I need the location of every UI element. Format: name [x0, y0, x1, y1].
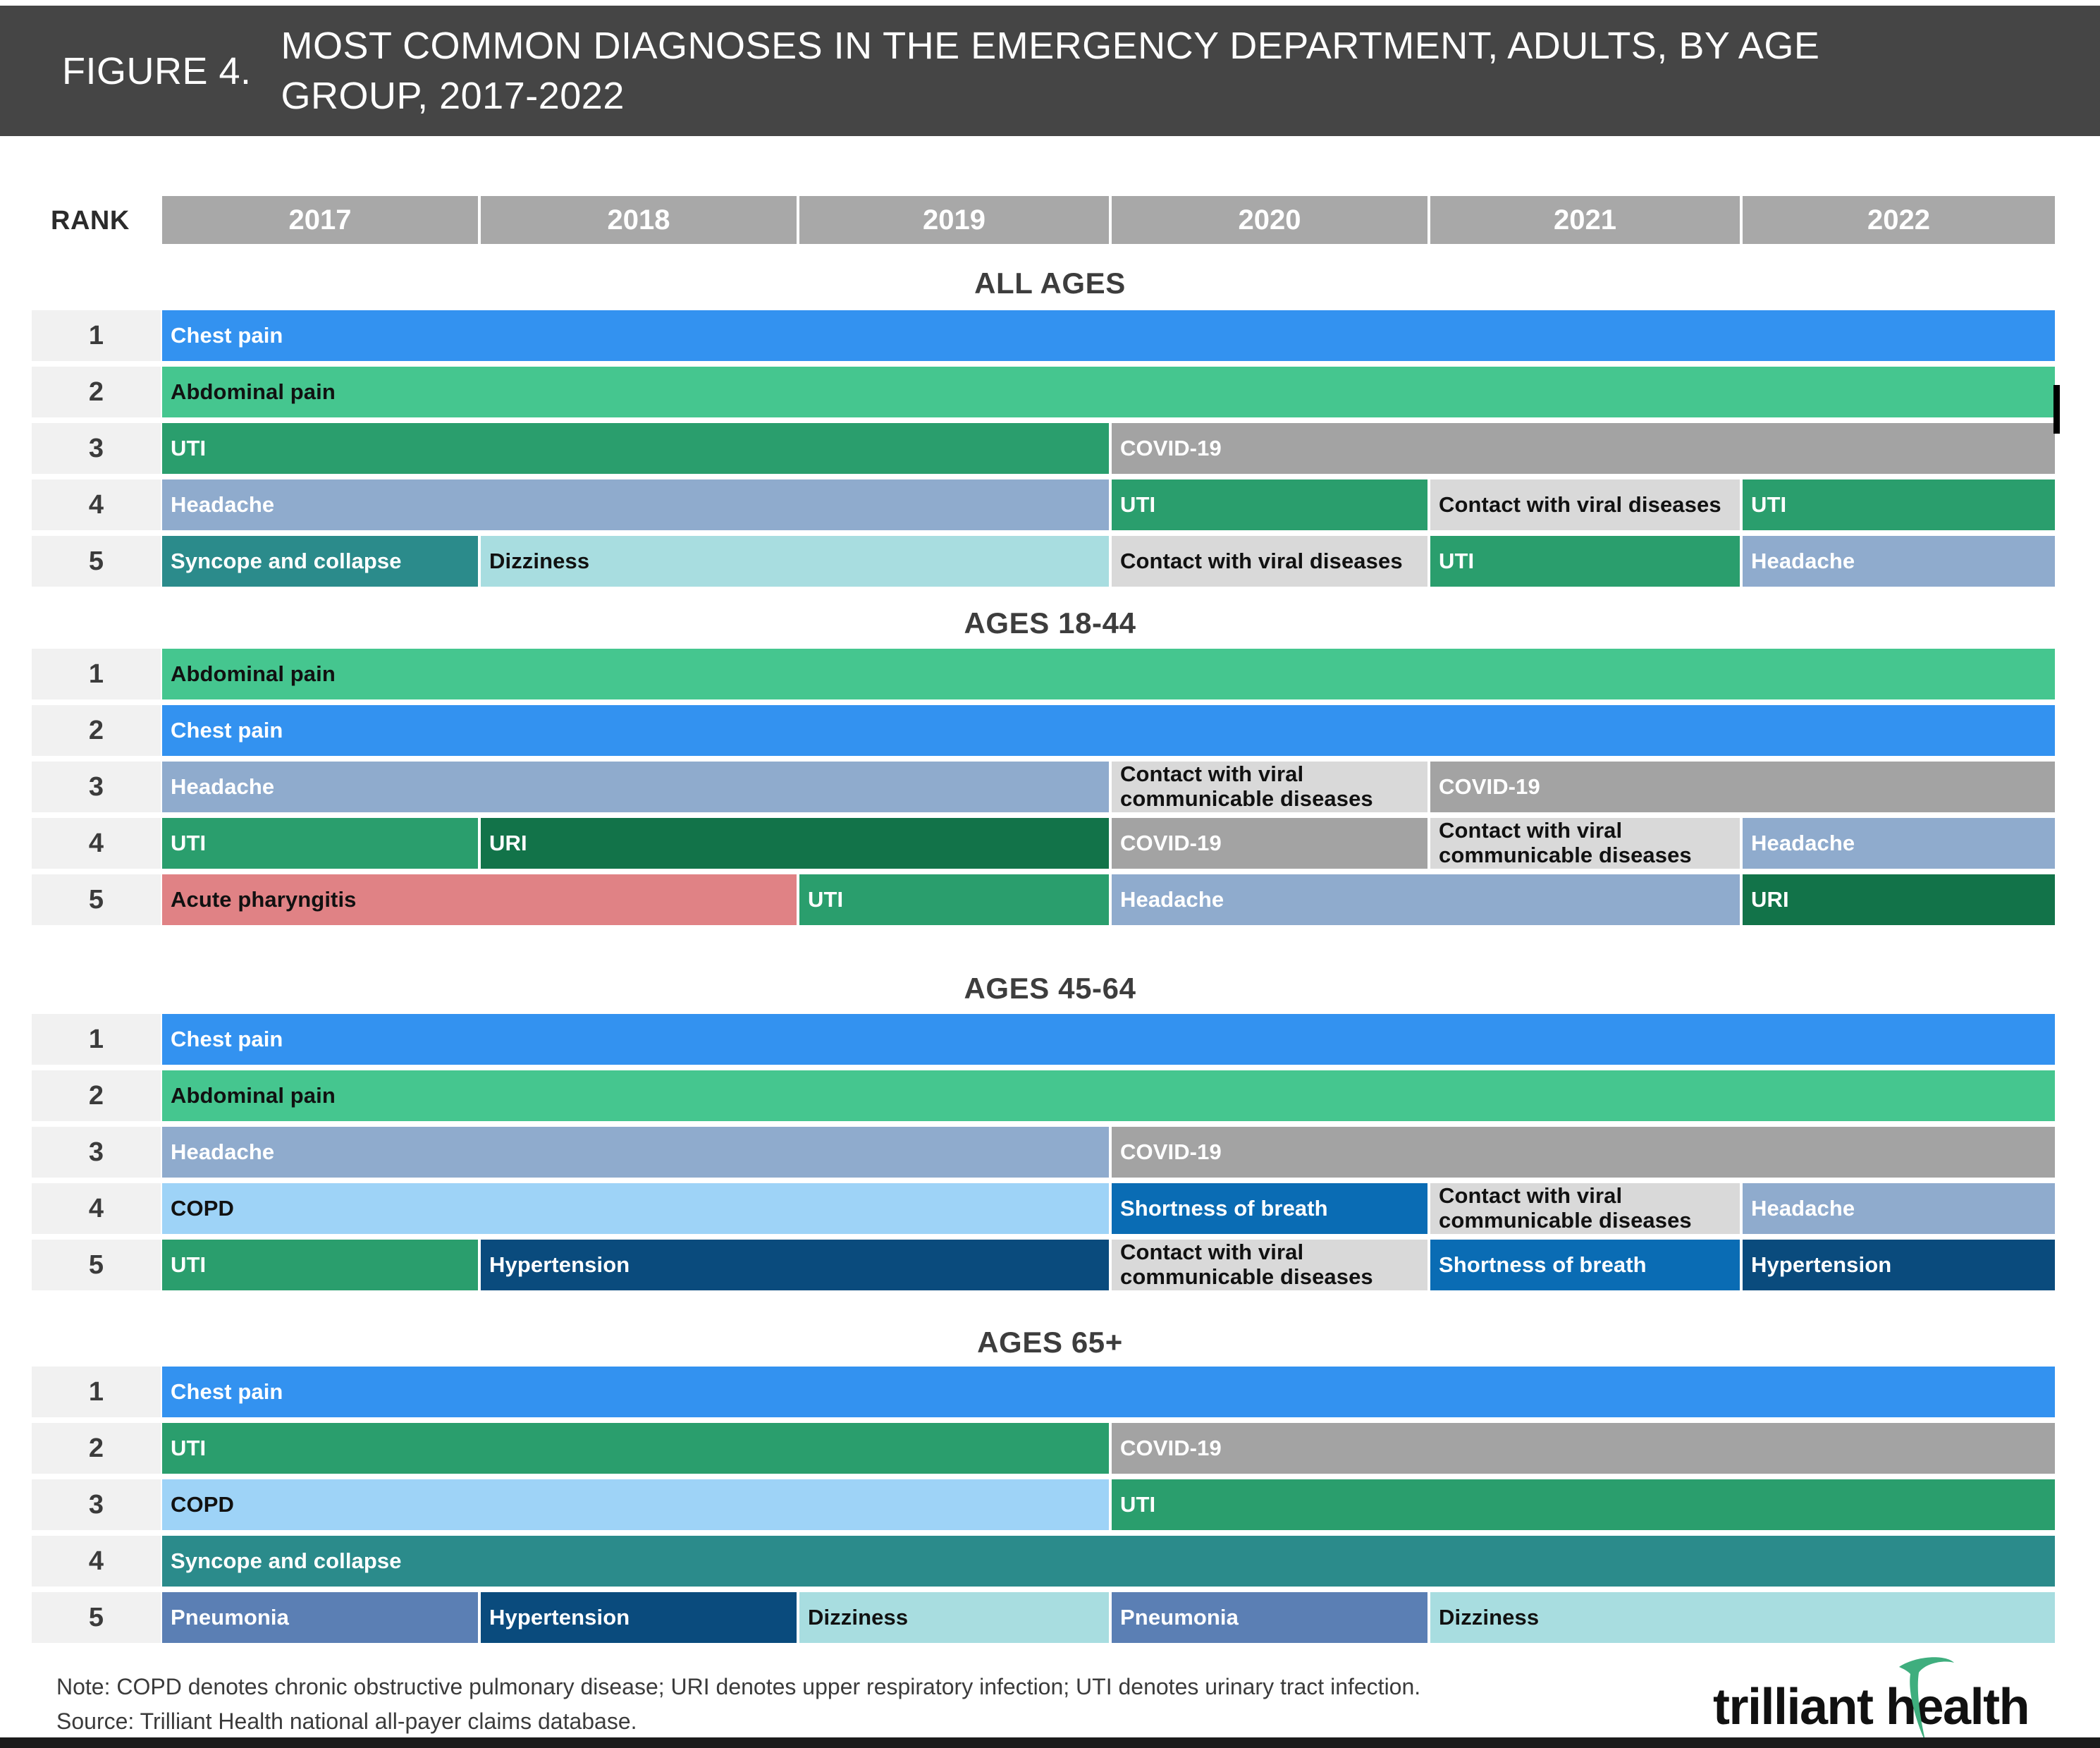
- diagnosis-cell[interactable]: Syncope and collapse: [162, 1536, 2055, 1587]
- diagnosis-cell[interactable]: Contact with viralcommunicable diseases: [1430, 818, 1740, 869]
- diagnosis-label: COVID-19: [1120, 1436, 1222, 1461]
- year-header-2019[interactable]: 2019: [799, 196, 1109, 244]
- rank-cell: 3: [32, 762, 161, 812]
- diagnosis-label: UTI: [808, 888, 843, 912]
- diagnosis-label: Headache: [171, 775, 274, 800]
- diagnosis-cell[interactable]: Dizziness: [1430, 1592, 2055, 1643]
- footnote-note: Note: COPD denotes chronic obstructive p…: [56, 1670, 1664, 1704]
- diagnosis-label: Contact with viralcommunicable diseases: [1439, 819, 1692, 867]
- diagnosis-cell[interactable]: COVID-19: [1112, 423, 2055, 474]
- rank-cell: 1: [32, 1014, 161, 1065]
- diagnosis-cell[interactable]: Syncope and collapse: [162, 536, 478, 587]
- rank-cell: 5: [32, 536, 161, 587]
- diagnosis-label: Pneumonia: [171, 1606, 289, 1630]
- diagnosis-label: Headache: [1751, 549, 1855, 574]
- diagnosis-label: Contact with viral diseases: [1439, 493, 1721, 518]
- diagnosis-label: UTI: [1751, 493, 1786, 518]
- section-title-ages-45-64: AGES 45-64: [0, 972, 2100, 1006]
- diagnosis-cell[interactable]: UTI: [162, 1240, 478, 1290]
- diagnosis-cell[interactable]: Hypertension: [481, 1592, 797, 1643]
- logo-wordmark: trilliant health: [1713, 1678, 2029, 1736]
- diagnosis-cell[interactable]: Pneumonia: [162, 1592, 478, 1643]
- year-header-2017[interactable]: 2017: [162, 196, 478, 244]
- diagnosis-label: Contact with viralcommunicable diseases: [1120, 1240, 1373, 1289]
- year-header-2020[interactable]: 2020: [1112, 196, 1427, 244]
- diagnosis-label: Headache: [1751, 1197, 1855, 1221]
- row-edge-marker: [2053, 385, 2060, 434]
- rank-cell: 1: [32, 649, 161, 699]
- diagnosis-label: Hypertension: [489, 1253, 630, 1278]
- year-header-2022[interactable]: 2022: [1743, 196, 2055, 244]
- diagnosis-label: Shortness of breath: [1120, 1197, 1328, 1221]
- footer-notes: Note: COPD denotes chronic obstructive p…: [56, 1670, 1664, 1738]
- diagnosis-cell[interactable]: UTI: [162, 423, 1109, 474]
- diagnosis-cell[interactable]: COPD: [162, 1183, 1109, 1234]
- diagnosis-cell[interactable]: COPD: [162, 1479, 1109, 1530]
- diagnosis-label: Contact with viralcommunicable diseases: [1439, 1184, 1692, 1233]
- page-title: MOST COMMON DIAGNOSES IN THE EMERGENCY D…: [281, 21, 1903, 120]
- diagnosis-cell[interactable]: Chest pain: [162, 1367, 2055, 1417]
- diagnosis-label: COPD: [171, 1197, 234, 1221]
- diagnosis-label: URI: [489, 831, 527, 856]
- diagnosis-cell[interactable]: Abdominal pain: [162, 367, 2055, 417]
- diagnosis-cell[interactable]: Contact with viralcommunicable diseases: [1112, 1240, 1427, 1290]
- diagnosis-label: UTI: [171, 1253, 206, 1278]
- diagnosis-label: Hypertension: [1751, 1253, 1891, 1278]
- rank-cell: 3: [32, 1479, 161, 1530]
- trilliant-health-logo: trilliant health: [1713, 1670, 2065, 1737]
- diagnosis-cell[interactable]: Hypertension: [1743, 1240, 2055, 1290]
- rank-cell: 5: [32, 1240, 161, 1290]
- diagnosis-cell[interactable]: Contact with viral diseases: [1112, 536, 1427, 587]
- rank-cell: 4: [32, 479, 161, 530]
- diagnosis-label: UTI: [1120, 1493, 1155, 1517]
- figure-number-label: FIGURE 4.: [62, 49, 252, 93]
- diagnosis-label: Headache: [1120, 888, 1224, 912]
- rank-cell: 5: [32, 874, 161, 925]
- figure-title-bar: FIGURE 4. MOST COMMON DIAGNOSES IN THE E…: [0, 6, 2100, 136]
- footnote-source: Source: Trilliant Health national all-pa…: [56, 1704, 1664, 1739]
- rank-cell: 2: [32, 705, 161, 756]
- diagnosis-label: UTI: [171, 436, 206, 461]
- diagnosis-label: Headache: [171, 493, 274, 518]
- diagnosis-cell[interactable]: Dizziness: [481, 536, 1109, 587]
- diagnosis-label: COVID-19: [1120, 436, 1222, 461]
- diagnosis-label: Dizziness: [808, 1606, 908, 1630]
- logo-swoosh-icon: [1895, 1654, 1955, 1744]
- diagnosis-cell[interactable]: Chest pain: [162, 310, 2055, 361]
- rank-cell: 1: [32, 310, 161, 361]
- diagnosis-label: COPD: [171, 1493, 234, 1517]
- diagnosis-label: Syncope and collapse: [171, 549, 402, 574]
- diagnosis-label: Dizziness: [489, 549, 589, 574]
- diagnosis-cell[interactable]: Chest pain: [162, 705, 2055, 756]
- diagnosis-label: Shortness of breath: [1439, 1253, 1647, 1278]
- diagnosis-label: Chest pain: [171, 324, 283, 348]
- diagnosis-label: Abdominal pain: [171, 662, 336, 687]
- diagnosis-label: Dizziness: [1439, 1606, 1539, 1630]
- diagnosis-label: Chest pain: [171, 1027, 283, 1052]
- diagnosis-cell[interactable]: Headache: [1112, 874, 1740, 925]
- diagnosis-cell[interactable]: COVID-19: [1112, 1423, 2055, 1474]
- diagnosis-cell[interactable]: UTI: [162, 1423, 1109, 1474]
- diagnosis-label: Chest pain: [171, 719, 283, 743]
- diagnosis-cell[interactable]: Headache: [162, 1127, 1109, 1178]
- rank-cell: 3: [32, 1127, 161, 1178]
- rank-cell: 4: [32, 818, 161, 869]
- diagnosis-label: COVID-19: [1439, 775, 1540, 800]
- rank-cell: 5: [32, 1592, 161, 1643]
- diagnosis-cell[interactable]: COVID-19: [1112, 818, 1427, 869]
- diagnosis-cell[interactable]: Shortness of breath: [1112, 1183, 1427, 1234]
- section-title-all-ages: ALL AGES: [0, 267, 2100, 300]
- diagnosis-cell[interactable]: COVID-19: [1430, 762, 2055, 812]
- diagnosis-label: URI: [1751, 888, 1789, 912]
- diagnosis-cell[interactable]: Abdominal pain: [162, 1070, 2055, 1121]
- diagnosis-cell[interactable]: Headache: [162, 479, 1109, 530]
- diagnosis-cell[interactable]: UTI: [162, 818, 478, 869]
- diagnosis-cell[interactable]: Contact with viralcommunicable diseases: [1112, 762, 1427, 812]
- rank-cell: 2: [32, 367, 161, 417]
- diagnosis-label: Headache: [1751, 831, 1855, 856]
- diagnosis-label: Abdominal pain: [171, 1084, 336, 1108]
- year-header-row: RANK 201720182019202020212022: [0, 196, 2100, 244]
- diagnosis-label: UTI: [171, 831, 206, 856]
- year-header-2021[interactable]: 2021: [1430, 196, 1740, 244]
- diagnosis-cell[interactable]: Acute pharyngitis: [162, 874, 797, 925]
- top-white-edge: [0, 0, 2100, 6]
- diagnosis-label: Syncope and collapse: [171, 1549, 402, 1574]
- rank-cell: 2: [32, 1070, 161, 1121]
- diagnosis-label: COVID-19: [1120, 1140, 1222, 1165]
- diagnosis-label: Acute pharyngitis: [171, 888, 357, 912]
- diagnosis-cell[interactable]: Hypertension: [481, 1240, 1109, 1290]
- diagnosis-label: Headache: [171, 1140, 274, 1165]
- diagnosis-label: Chest pain: [171, 1380, 283, 1405]
- rank-cell: 4: [32, 1183, 161, 1234]
- bottom-bar: [0, 1737, 2100, 1748]
- diagnosis-label: UTI: [1120, 493, 1155, 518]
- rank-cell: 3: [32, 423, 161, 474]
- rank-cell: 1: [32, 1367, 161, 1417]
- rank-cell: 4: [32, 1536, 161, 1587]
- diagnosis-cell[interactable]: COVID-19: [1112, 1127, 2055, 1178]
- diagnosis-cell[interactable]: UTI: [1430, 536, 1740, 587]
- diagnosis-label: COVID-19: [1120, 831, 1222, 856]
- diagnosis-cell[interactable]: UTI: [799, 874, 1109, 925]
- diagnosis-cell[interactable]: UTI: [1112, 479, 1427, 530]
- diagnosis-cell[interactable]: Headache: [1743, 536, 2055, 587]
- diagnosis-cell[interactable]: Shortness of breath: [1430, 1240, 1740, 1290]
- diagnosis-cell[interactable]: Headache: [1743, 818, 2055, 869]
- section-title-ages-18-44: AGES 18-44: [0, 606, 2100, 640]
- diagnosis-label: Pneumonia: [1120, 1606, 1239, 1630]
- diagnosis-cell[interactable]: Dizziness: [799, 1592, 1109, 1643]
- diagnosis-label: UTI: [1439, 549, 1474, 574]
- rank-cell: 2: [32, 1423, 161, 1474]
- diagnosis-cell[interactable]: Headache: [1743, 1183, 2055, 1234]
- diagnosis-cell[interactable]: Contact with viralcommunicable diseases: [1430, 1183, 1740, 1234]
- diagnosis-cell[interactable]: Pneumonia: [1112, 1592, 1427, 1643]
- diagnosis-label: Abdominal pain: [171, 380, 336, 405]
- diagnosis-cell[interactable]: Headache: [162, 762, 1109, 812]
- section-title-ages-65-: AGES 65+: [0, 1326, 2100, 1359]
- diagnosis-cell[interactable]: Contact with viral diseases: [1430, 479, 1740, 530]
- diagnosis-cell[interactable]: URI: [1743, 874, 2055, 925]
- diagnosis-cell[interactable]: URI: [481, 818, 1109, 869]
- diagnosis-cell[interactable]: Abdominal pain: [162, 649, 2055, 699]
- diagnosis-cell[interactable]: UTI: [1112, 1479, 2055, 1530]
- diagnosis-label: Hypertension: [489, 1606, 630, 1630]
- diagnosis-label: UTI: [171, 1436, 206, 1461]
- diagnosis-label: Contact with viral diseases: [1120, 549, 1403, 574]
- diagnosis-cell[interactable]: UTI: [1743, 479, 2055, 530]
- diagnosis-cell[interactable]: Chest pain: [162, 1014, 2055, 1065]
- diagnosis-label: Contact with viralcommunicable diseases: [1120, 762, 1373, 811]
- rank-column-header: RANK: [51, 206, 130, 236]
- year-header-2018[interactable]: 2018: [481, 196, 797, 244]
